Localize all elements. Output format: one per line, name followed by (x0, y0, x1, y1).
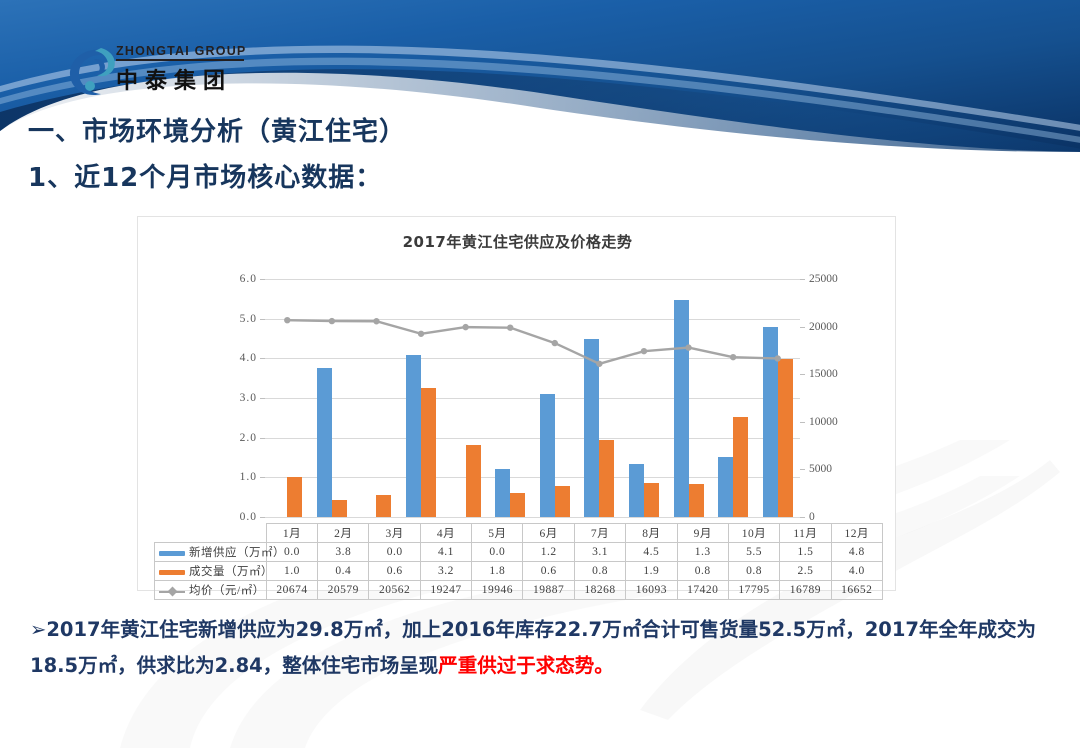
price-line-marker (284, 317, 290, 323)
y-axis-right-tick-label: 25000 (809, 273, 838, 285)
y-axis-right-tick-label: 5000 (809, 463, 832, 475)
table-cell: 17795 (728, 581, 779, 600)
price-line-marker (329, 318, 335, 324)
chart-card: 2017年黄江住宅供应及价格走势 0.01.02.03.04.05.06.0 0… (137, 216, 896, 591)
table-month-header-cell: 8月 (626, 524, 677, 543)
logo-english-name: ZHONGTAI GROUP (116, 44, 246, 58)
price-line-marker (685, 344, 691, 350)
orange-bar-legend-icon (159, 570, 185, 575)
table-cell: 1.0 (266, 562, 317, 581)
table-cell: 0.8 (677, 562, 728, 581)
y-axis-right-tickmark (800, 517, 805, 518)
zhongtai-swirl-logo-icon (68, 42, 120, 98)
bullet-arrow-icon: ➢ (30, 618, 46, 641)
y-axis-right-tick-label: 15000 (809, 368, 838, 380)
price-line-marker (775, 355, 781, 361)
table-row-label: 均价（元/㎡） (189, 585, 265, 597)
table-cell: 16093 (626, 581, 677, 600)
table-cell: 20674 (266, 581, 317, 600)
table-cell: 1.5 (780, 543, 831, 562)
price-line-marker (373, 318, 379, 324)
y-axis-left-tickmark (260, 517, 265, 518)
table-cell: 1.2 (523, 543, 574, 562)
price-line-marker (730, 354, 736, 360)
price-line-marker (596, 361, 602, 367)
table-cell: 4.8 (831, 543, 882, 562)
price-line-series (265, 279, 800, 517)
table-month-header-cell: 4月 (420, 524, 471, 543)
chart-plot-area: 0.01.02.03.04.05.06.0 050001000015000200… (265, 279, 800, 517)
y-axis-right-tick-label: 10000 (809, 416, 838, 428)
table-cell: 3.8 (318, 543, 369, 562)
table-month-header-cell: 9月 (677, 524, 728, 543)
table-month-header-cell: 5月 (472, 524, 523, 543)
table-month-header-cell: 12月 (831, 524, 882, 543)
table-cell: 2.5 (780, 562, 831, 581)
table-month-header-cell: 6月 (523, 524, 574, 543)
table-cell: 18268 (574, 581, 625, 600)
table-cell: 0.0 (472, 543, 523, 562)
table-header-row: 1月2月3月4月5月6月7月8月9月10月11月12月 (155, 524, 883, 543)
y-axis-right-tickmark (800, 422, 805, 423)
y-axis-right-tickmark (800, 279, 805, 280)
y-axis-right-tickmark (800, 327, 805, 328)
table-cell: 1.8 (472, 562, 523, 581)
table-cell: 0.6 (369, 562, 420, 581)
table-row-header: 新增供应（万㎡） (155, 543, 267, 562)
section-title: 一、市场环境分析（黄江住宅） (28, 111, 406, 148)
table-cell: 5.5 (728, 543, 779, 562)
price-line-marker (418, 331, 424, 337)
table-cell: 0.8 (574, 562, 625, 581)
logo-chinese-name: 中泰集团 (116, 63, 246, 95)
table-month-header-cell: 1月 (266, 524, 317, 543)
table-month-header-cell: 11月 (780, 524, 831, 543)
price-line-path (287, 320, 777, 364)
table-cell: 4.1 (420, 543, 471, 562)
price-line-marker (641, 348, 647, 354)
chart-title: 2017年黄江住宅供应及价格走势 (138, 231, 897, 252)
y-axis-left-tick-label: 2.0 (240, 432, 257, 444)
table-row-label: 新增供应（万㎡） (189, 547, 285, 559)
table-cell: 0.6 (523, 562, 574, 581)
table-cell: 17420 (677, 581, 728, 600)
blue-bar-legend-icon (159, 551, 185, 556)
gray-line-legend-icon (159, 588, 185, 595)
table-month-header-cell: 2月 (318, 524, 369, 543)
price-line-marker (552, 340, 558, 346)
chart-data-table: 1月2月3月4月5月6月7月8月9月10月11月12月新增供应（万㎡）0.03.… (154, 523, 883, 600)
table-cell: 0.4 (318, 562, 369, 581)
table-cell: 4.0 (831, 562, 882, 581)
summary-paragraph: ➢2017年黄江住宅新增供应为29.8万㎡，加上2016年库存22.7万㎡合计可… (30, 612, 1050, 684)
y-axis-left-tick-label: 4.0 (240, 352, 257, 364)
table-row: 均价（元/㎡）206742057920562192471994619887182… (155, 581, 883, 600)
y-axis-left-tick-label: 0.0 (240, 511, 257, 523)
table-month-header-cell: 10月 (728, 524, 779, 543)
y-axis-right-tickmark (800, 374, 805, 375)
price-line-marker (507, 324, 513, 330)
table-row-label: 成交量（万㎡） (189, 566, 273, 578)
table-cell: 3.1 (574, 543, 625, 562)
table-month-header-cell: 7月 (574, 524, 625, 543)
table-cell: 4.5 (626, 543, 677, 562)
y-axis-right-tick-label: 0 (809, 511, 815, 523)
y-axis-right-tick-label: 20000 (809, 321, 838, 333)
table-row-header: 成交量（万㎡） (155, 562, 267, 581)
table-cell: 20579 (318, 581, 369, 600)
table-cell: 19247 (420, 581, 471, 600)
table-month-header-cell: 3月 (369, 524, 420, 543)
price-line-marker (462, 324, 468, 330)
table-cell: 3.2 (420, 562, 471, 581)
table-cell: 19887 (523, 581, 574, 600)
table-cell: 1.9 (626, 562, 677, 581)
slide-root: ZHONGTAI GROUP 中泰集团 一、市场环境分析（黄江住宅） 1、近12… (0, 0, 1080, 748)
logo-wordmark: ZHONGTAI GROUP 中泰集团 (116, 44, 246, 95)
table-cell: 0.8 (728, 562, 779, 581)
table-cell: 16789 (780, 581, 831, 600)
gridline (265, 517, 800, 518)
table-corner-cell (155, 524, 267, 543)
logo-divider (116, 59, 244, 61)
table-cell: 19946 (472, 581, 523, 600)
table-cell: 20562 (369, 581, 420, 600)
y-axis-left-tick-label: 5.0 (240, 313, 257, 325)
table-row-header: 均价（元/㎡） (155, 581, 267, 600)
table-cell: 0.0 (369, 543, 420, 562)
y-axis-left-tick-label: 6.0 (240, 273, 257, 285)
table-cell: 16652 (831, 581, 882, 600)
y-axis-left-tick-label: 3.0 (240, 392, 257, 404)
y-axis-left-tick-label: 1.0 (240, 471, 257, 483)
summary-highlight: 严重供过于求态势。 (438, 654, 614, 677)
subsection-title: 1、近12个月市场核心数据： (28, 157, 382, 194)
table-row: 成交量（万㎡）1.00.40.63.21.80.60.81.90.80.82.5… (155, 562, 883, 581)
table-row: 新增供应（万㎡）0.03.80.04.10.01.23.14.51.35.51.… (155, 543, 883, 562)
y-axis-right-tickmark (800, 469, 805, 470)
table-cell: 1.3 (677, 543, 728, 562)
